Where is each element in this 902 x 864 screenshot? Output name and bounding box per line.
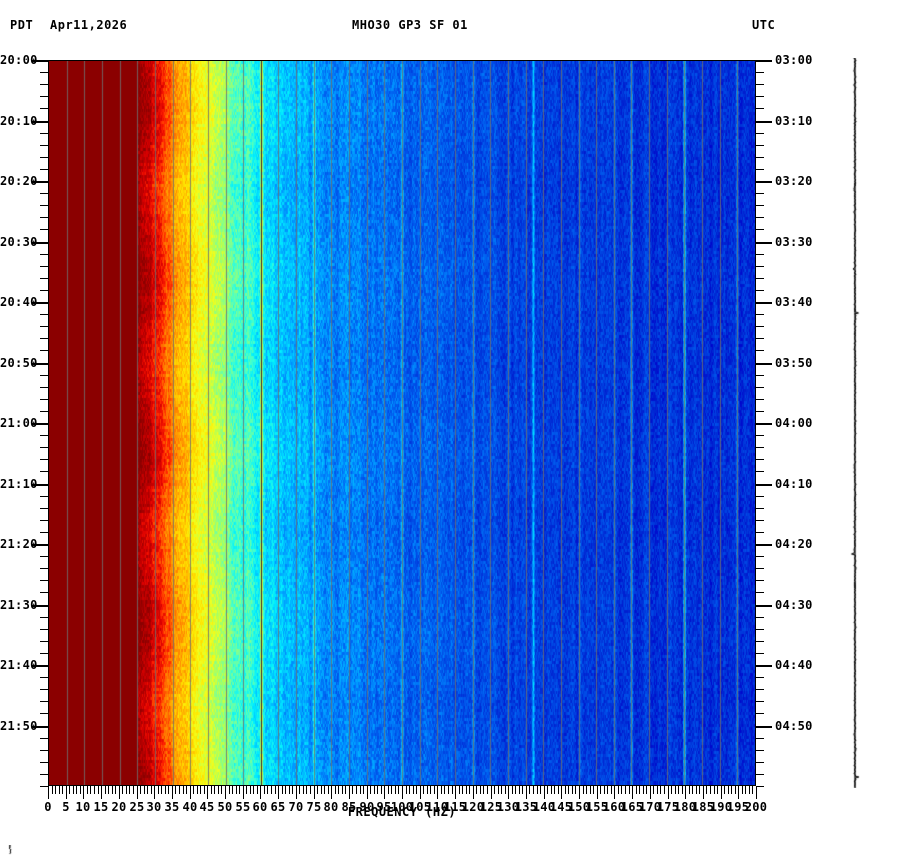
minor-tick (140, 786, 141, 794)
minor-tick (756, 290, 764, 291)
minor-tick (572, 786, 573, 794)
major-tick (756, 242, 772, 244)
utc-time-label: 04:40 (775, 658, 813, 672)
minor-tick (303, 786, 304, 794)
minor-tick (756, 326, 764, 327)
minor-tick (356, 786, 357, 794)
minor-tick (756, 738, 764, 739)
minor-tick (40, 108, 48, 109)
minor-tick (253, 786, 254, 794)
minor-tick (338, 786, 339, 794)
minor-tick (756, 108, 764, 109)
minor-tick (710, 786, 711, 794)
pdt-time-label: 20:10 (0, 114, 30, 128)
minor-tick (508, 786, 509, 799)
minor-tick (40, 774, 48, 775)
minor-tick (717, 786, 718, 794)
minor-tick (381, 786, 382, 794)
minor-tick (639, 786, 640, 794)
minor-tick (119, 786, 120, 799)
minor-tick (282, 786, 283, 794)
minor-tick (40, 205, 48, 206)
minor-tick (756, 278, 764, 279)
minor-tick (554, 786, 555, 794)
minor-tick (40, 193, 48, 194)
minor-tick (466, 786, 467, 794)
minor-tick (331, 786, 332, 799)
minor-tick (646, 786, 647, 794)
minor-tick (40, 145, 48, 146)
minor-tick (756, 133, 764, 134)
minor-tick (501, 786, 502, 794)
minor-tick (756, 169, 764, 170)
minor-tick (218, 786, 219, 794)
minor-tick (179, 786, 180, 794)
minor-tick (62, 786, 63, 794)
utc-time-label: 04:00 (775, 416, 813, 430)
minor-tick (537, 786, 538, 794)
minor-tick (671, 786, 672, 794)
minor-tick (40, 447, 48, 448)
minor-tick (321, 786, 322, 794)
minor-tick (547, 786, 548, 794)
minor-tick (756, 72, 764, 73)
minor-tick (568, 786, 569, 794)
minor-tick (324, 786, 325, 794)
spectrogram-plot[interactable] (48, 60, 756, 786)
minor-tick (590, 786, 591, 794)
minor-tick (285, 786, 286, 794)
major-tick (756, 423, 772, 425)
minor-tick (190, 786, 191, 799)
minor-tick (752, 786, 753, 794)
minor-tick (611, 786, 612, 794)
minor-tick (756, 447, 764, 448)
minor-tick (94, 786, 95, 794)
minor-tick (239, 786, 240, 794)
minor-tick (756, 157, 764, 158)
minor-tick (685, 786, 686, 799)
minor-tick (73, 786, 74, 794)
major-tick (756, 121, 772, 123)
minor-tick (402, 786, 403, 799)
minor-tick (756, 375, 764, 376)
minor-tick (112, 786, 113, 794)
minor-tick (526, 786, 527, 799)
minor-tick (756, 84, 764, 85)
minor-tick (756, 592, 764, 593)
minor-tick (40, 278, 48, 279)
minor-tick (207, 786, 208, 799)
minor-tick (756, 520, 764, 521)
major-tick (756, 363, 772, 365)
minor-tick (66, 786, 67, 799)
minor-tick (487, 786, 488, 794)
minor-tick (756, 786, 764, 787)
minor-tick (40, 641, 48, 642)
minor-tick (459, 786, 460, 794)
minor-tick (437, 786, 438, 799)
utc-time-label: 04:20 (775, 537, 813, 551)
minor-tick (756, 266, 764, 267)
minor-tick (756, 314, 764, 315)
minor-tick (756, 254, 764, 255)
minor-tick (469, 786, 470, 794)
minor-tick (756, 617, 764, 618)
minor-tick (40, 459, 48, 460)
minor-tick (756, 471, 764, 472)
minor-tick (40, 133, 48, 134)
minor-tick (352, 786, 353, 794)
header-timezone-right: UTC (752, 18, 775, 32)
minor-tick (40, 375, 48, 376)
minor-tick (40, 350, 48, 351)
minor-tick (756, 653, 764, 654)
minor-tick (724, 786, 725, 794)
minor-tick (540, 786, 541, 794)
minor-tick (48, 786, 49, 799)
minor-tick (420, 786, 421, 799)
minor-tick (40, 229, 48, 230)
minor-tick (40, 701, 48, 702)
minor-tick (512, 786, 513, 794)
minor-tick (40, 629, 48, 630)
minor-tick (423, 786, 424, 794)
minor-tick (165, 786, 166, 794)
minor-tick (756, 387, 764, 388)
minor-tick (696, 786, 697, 794)
minor-tick (40, 266, 48, 267)
minor-tick (749, 786, 750, 794)
spectrogram-image (49, 61, 755, 785)
minor-tick (441, 786, 442, 794)
minor-tick (229, 786, 230, 794)
utc-time-label: 04:10 (775, 477, 813, 491)
major-tick (756, 726, 772, 728)
minor-tick (133, 786, 134, 794)
minor-tick (40, 786, 48, 787)
minor-tick (756, 580, 764, 581)
minor-tick (653, 786, 654, 794)
minor-tick (299, 786, 300, 794)
minor-tick (168, 786, 169, 794)
minor-tick (40, 471, 48, 472)
minor-tick (519, 786, 520, 794)
minor-tick (452, 786, 453, 794)
pdt-time-label: 21:00 (0, 416, 30, 430)
minor-tick (706, 786, 707, 794)
minor-tick (40, 738, 48, 739)
minor-tick (232, 786, 233, 794)
minor-tick (236, 786, 237, 794)
minor-tick (593, 786, 594, 794)
major-tick (756, 605, 772, 607)
utc-time-label: 03:00 (775, 53, 813, 67)
minor-tick (246, 786, 247, 794)
minor-tick (161, 786, 162, 794)
minor-tick (728, 786, 729, 794)
minor-tick (756, 496, 764, 497)
pdt-time-label: 21:30 (0, 598, 30, 612)
minor-tick (40, 520, 48, 521)
minor-tick (328, 786, 329, 794)
minor-tick (306, 786, 307, 794)
minor-tick (597, 786, 598, 799)
minor-tick (260, 786, 261, 799)
minor-tick (745, 786, 746, 794)
minor-tick (756, 689, 764, 690)
minor-tick (756, 774, 764, 775)
minor-tick (363, 786, 364, 794)
minor-tick (480, 786, 481, 794)
minor-tick (144, 786, 145, 794)
corner-trace-stub (6, 845, 20, 855)
minor-tick (101, 786, 102, 799)
pdt-time-label: 21:50 (0, 719, 30, 733)
minor-tick (40, 508, 48, 509)
minor-tick (69, 786, 70, 794)
minor-tick (756, 338, 764, 339)
minor-tick (367, 786, 368, 799)
minor-tick (40, 169, 48, 170)
minor-tick (756, 629, 764, 630)
pdt-time-label: 20:50 (0, 356, 30, 370)
minor-tick (476, 786, 477, 794)
minor-tick (515, 786, 516, 794)
minor-tick (756, 350, 764, 351)
minor-tick (494, 786, 495, 794)
minor-tick (175, 786, 176, 794)
minor-tick (409, 786, 410, 794)
minor-tick (756, 750, 764, 751)
minor-tick (211, 786, 212, 794)
minor-tick (721, 786, 722, 799)
minor-tick (692, 786, 693, 794)
minor-tick (40, 568, 48, 569)
major-tick (756, 544, 772, 546)
minor-tick (618, 786, 619, 794)
minor-tick (703, 786, 704, 799)
minor-tick (756, 399, 764, 400)
minor-tick (126, 786, 127, 794)
minor-tick (40, 290, 48, 291)
major-tick (756, 665, 772, 667)
frequency-axis-title: FREQUENCY (HZ) (0, 805, 804, 819)
minor-tick (756, 701, 764, 702)
minor-tick (52, 786, 53, 794)
minor-tick (660, 786, 661, 794)
minor-tick (40, 435, 48, 436)
minor-tick (250, 786, 251, 794)
minor-tick (738, 786, 739, 799)
minor-tick (668, 786, 669, 799)
minor-tick (115, 786, 116, 794)
minor-tick (579, 786, 580, 799)
minor-tick (384, 786, 385, 799)
minor-tick (349, 786, 350, 799)
minor-tick (427, 786, 428, 794)
minor-tick (448, 786, 449, 794)
minor-tick (40, 617, 48, 618)
minor-tick (604, 786, 605, 794)
utc-time-label: 03:10 (775, 114, 813, 128)
minor-tick (360, 786, 361, 794)
minor-tick (83, 786, 84, 799)
pdt-time-label: 21:20 (0, 537, 30, 551)
minor-tick (271, 786, 272, 794)
minor-tick (678, 786, 679, 794)
minor-tick (583, 786, 584, 794)
minor-tick (40, 762, 48, 763)
minor-tick (310, 786, 311, 794)
minor-tick (434, 786, 435, 794)
minor-tick (756, 435, 764, 436)
minor-tick (55, 786, 56, 794)
minor-tick (151, 786, 152, 794)
pdt-time-label: 20:20 (0, 174, 30, 188)
minor-tick (395, 786, 396, 794)
minor-tick (756, 205, 764, 206)
minor-tick (90, 786, 91, 794)
minor-tick (377, 786, 378, 794)
minor-tick (607, 786, 608, 794)
minor-tick (40, 314, 48, 315)
minor-tick (225, 786, 226, 799)
minor-tick (756, 786, 757, 799)
minor-tick (204, 786, 205, 794)
minor-tick (105, 786, 106, 794)
minor-tick (756, 556, 764, 557)
pdt-time-label: 21:40 (0, 658, 30, 672)
minor-tick (735, 786, 736, 794)
minor-tick (40, 338, 48, 339)
minor-tick (614, 786, 615, 799)
minor-tick (430, 786, 431, 794)
minor-tick (406, 786, 407, 794)
minor-tick (473, 786, 474, 799)
pdt-time-label: 20:00 (0, 53, 30, 67)
minor-tick (172, 786, 173, 799)
minor-tick (40, 254, 48, 255)
minor-tick (76, 786, 77, 794)
minor-tick (388, 786, 389, 794)
minor-tick (264, 786, 265, 794)
minor-tick (756, 677, 764, 678)
utc-time-label: 03:30 (775, 235, 813, 249)
minor-tick (243, 786, 244, 799)
utc-time-label: 04:30 (775, 598, 813, 612)
minor-tick (575, 786, 576, 794)
minor-tick (40, 387, 48, 388)
minor-tick (122, 786, 123, 794)
minor-tick (444, 786, 445, 794)
minor-tick (756, 96, 764, 97)
minor-tick (267, 786, 268, 794)
minor-tick (756, 713, 764, 714)
minor-tick (625, 786, 626, 794)
minor-tick (40, 399, 48, 400)
minor-tick (40, 556, 48, 557)
minor-tick (544, 786, 545, 799)
minor-tick (40, 713, 48, 714)
major-tick (756, 181, 772, 183)
minor-tick (756, 229, 764, 230)
minor-tick (756, 193, 764, 194)
major-tick (756, 302, 772, 304)
minor-tick (756, 459, 764, 460)
utc-time-label: 03:20 (775, 174, 813, 188)
minor-tick (197, 786, 198, 794)
minor-tick (221, 786, 222, 794)
minor-tick (699, 786, 700, 794)
minor-tick (314, 786, 315, 799)
pdt-time-label: 20:40 (0, 295, 30, 309)
minor-tick (636, 786, 637, 794)
minor-tick (40, 496, 48, 497)
header-timezone-left: PDT (10, 18, 33, 32)
minor-tick (416, 786, 417, 794)
minor-tick (398, 786, 399, 794)
minor-tick (80, 786, 81, 794)
minor-tick (586, 786, 587, 794)
minor-tick (40, 653, 48, 654)
utc-time-label: 03:40 (775, 295, 813, 309)
minor-tick (657, 786, 658, 794)
minor-tick (731, 786, 732, 794)
minor-tick (565, 786, 566, 794)
amplitude-trace (830, 58, 880, 788)
minor-tick (40, 72, 48, 73)
minor-tick (756, 411, 764, 412)
minor-tick (147, 786, 148, 794)
minor-tick (756, 762, 764, 763)
minor-tick (186, 786, 187, 794)
minor-tick (317, 786, 318, 794)
minor-tick (643, 786, 644, 794)
minor-tick (600, 786, 601, 794)
minor-tick (558, 786, 559, 794)
minor-tick (714, 786, 715, 794)
minor-tick (40, 217, 48, 218)
minor-tick (632, 786, 633, 799)
utc-time-label: 03:50 (775, 356, 813, 370)
minor-tick (108, 786, 109, 794)
minor-tick (40, 677, 48, 678)
minor-tick (200, 786, 201, 794)
minor-tick (292, 786, 293, 794)
minor-tick (40, 84, 48, 85)
minor-tick (498, 786, 499, 794)
minor-tick (40, 96, 48, 97)
minor-tick (296, 786, 297, 799)
minor-tick (756, 532, 764, 533)
minor-tick (413, 786, 414, 794)
minor-tick (40, 326, 48, 327)
minor-tick (682, 786, 683, 794)
minor-tick (275, 786, 276, 794)
minor-tick (756, 145, 764, 146)
minor-tick (756, 641, 764, 642)
minor-tick (455, 786, 456, 799)
minor-tick (257, 786, 258, 794)
minor-tick (40, 580, 48, 581)
minor-tick (370, 786, 371, 794)
minor-tick (675, 786, 676, 794)
minor-tick (183, 786, 184, 794)
pdt-time-label: 21:10 (0, 477, 30, 491)
header-date: Apr11,2026 (50, 18, 127, 32)
minor-tick (342, 786, 343, 794)
